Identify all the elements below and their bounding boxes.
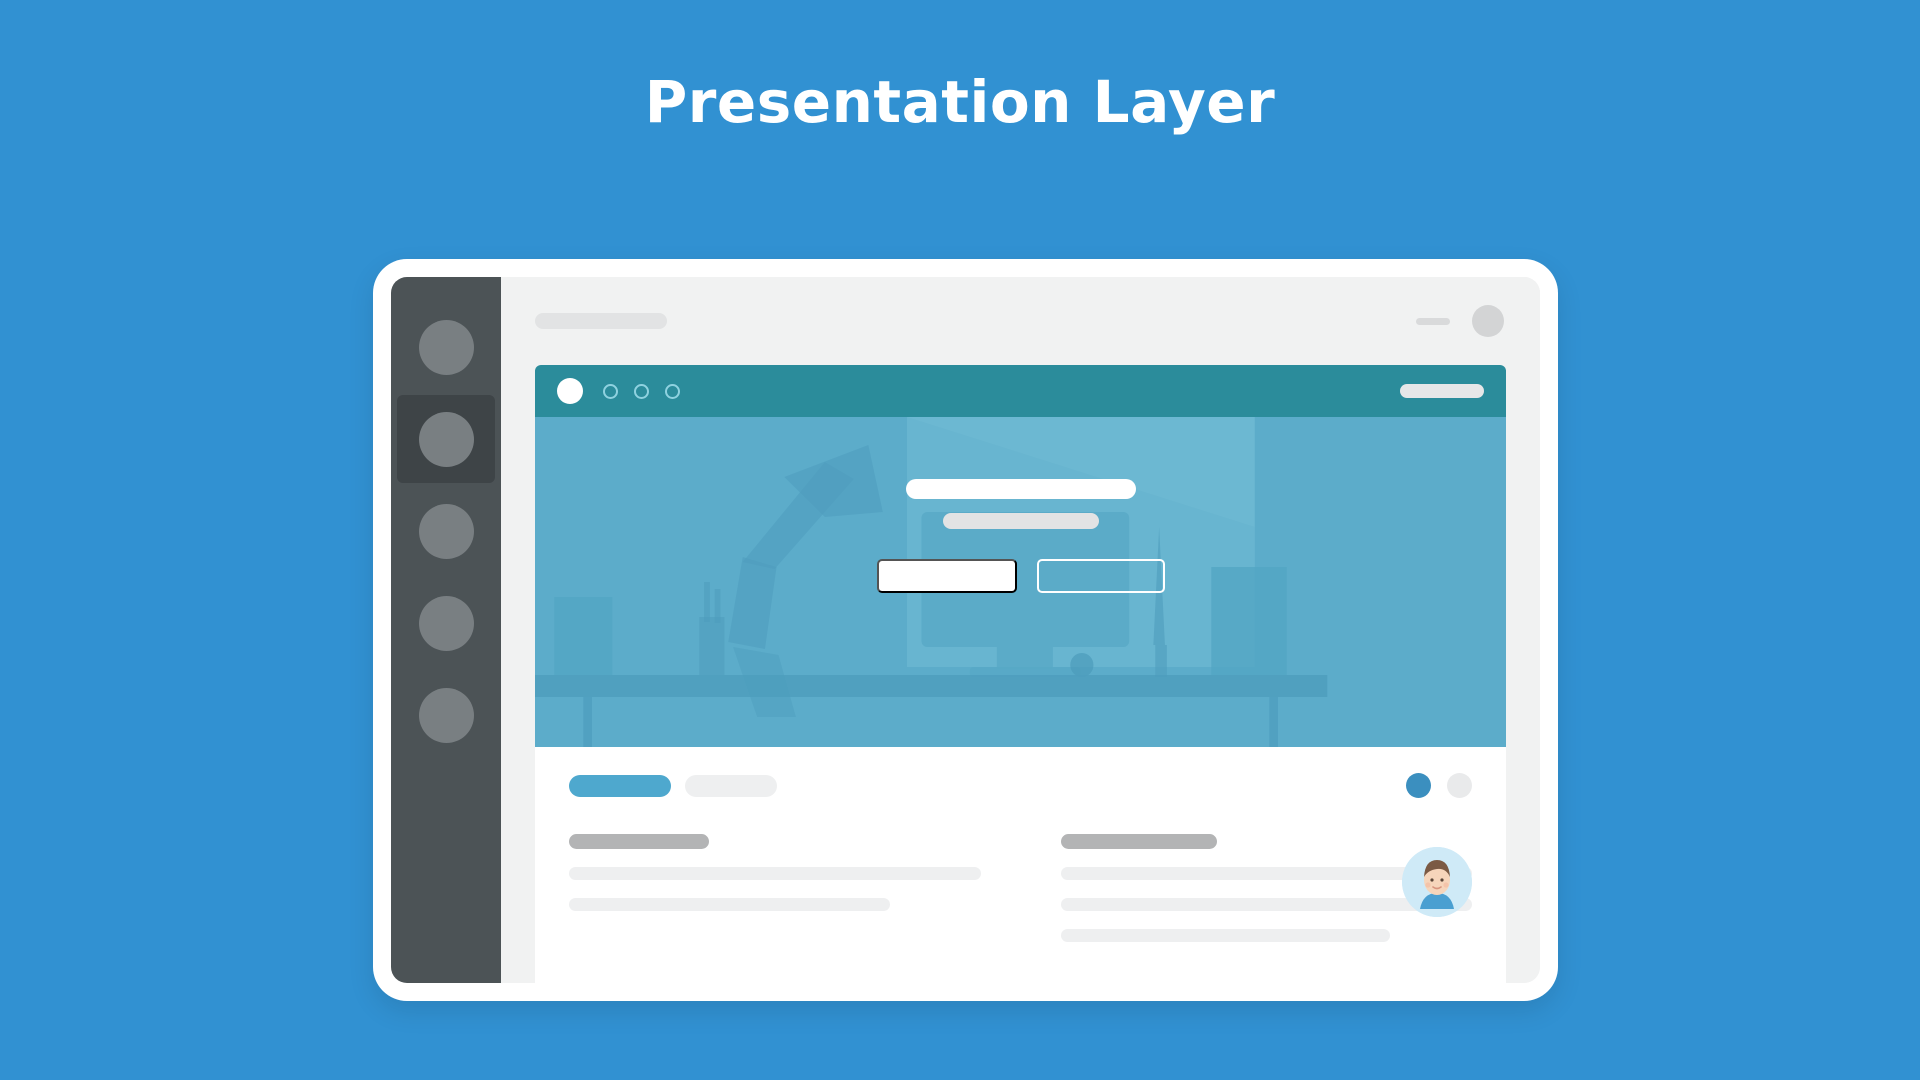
- column-heading: [569, 834, 709, 849]
- tabs-row: [569, 773, 1472, 798]
- minimize-icon[interactable]: [1416, 318, 1450, 325]
- window-button-1-icon[interactable]: [603, 384, 618, 399]
- tablet-device-frame: [373, 259, 1558, 1001]
- app-topbar: [501, 277, 1540, 365]
- hero-content: [535, 417, 1506, 747]
- app-sidebar: [391, 277, 501, 983]
- browser-window: [535, 365, 1506, 983]
- sidebar-item-5[interactable]: [397, 671, 495, 759]
- user-avatar[interactable]: [1402, 847, 1472, 917]
- hero-primary-button[interactable]: [877, 559, 1017, 593]
- hero-banner: [535, 417, 1506, 747]
- tablet-screen: [391, 277, 1540, 983]
- hero-subheadline-placeholder: [943, 513, 1099, 529]
- circle-icon: [419, 504, 474, 559]
- text-line: [569, 867, 981, 880]
- sidebar-item-1[interactable]: [397, 303, 495, 391]
- pagination: [1406, 773, 1472, 798]
- pagination-dot-1[interactable]: [1406, 773, 1431, 798]
- content-section: [535, 747, 1506, 983]
- app-logo-placeholder: [535, 313, 667, 329]
- page-title: Presentation Layer: [0, 68, 1920, 136]
- browser-titlebar: [535, 365, 1506, 417]
- text-line: [1061, 929, 1390, 942]
- content-column-left: [569, 834, 981, 942]
- window-button-2-icon[interactable]: [634, 384, 649, 399]
- circle-icon: [419, 688, 474, 743]
- sidebar-item-2[interactable]: [397, 395, 495, 483]
- browser-url-bar[interactable]: [1400, 384, 1484, 398]
- hero-secondary-button[interactable]: [1037, 559, 1165, 593]
- circle-icon: [419, 596, 474, 651]
- user-avatar-illustration: [1402, 847, 1472, 917]
- hero-headline-placeholder: [906, 479, 1136, 499]
- app-topbar-actions: [1416, 305, 1504, 337]
- circle-icon: [419, 320, 474, 375]
- tab-inactive[interactable]: [685, 775, 777, 797]
- window-button-active-icon[interactable]: [557, 378, 583, 404]
- text-line: [569, 898, 890, 911]
- content-columns: [569, 834, 1472, 942]
- window-button-3-icon[interactable]: [665, 384, 680, 399]
- sidebar-item-3[interactable]: [397, 487, 495, 575]
- account-avatar-icon[interactable]: [1472, 305, 1504, 337]
- app-main-area: [501, 277, 1540, 983]
- circle-icon: [419, 412, 474, 467]
- column-heading: [1061, 834, 1217, 849]
- tab-active[interactable]: [569, 775, 671, 797]
- pagination-dot-2[interactable]: [1447, 773, 1472, 798]
- hero-cta-group: [877, 559, 1165, 593]
- sidebar-item-4[interactable]: [397, 579, 495, 667]
